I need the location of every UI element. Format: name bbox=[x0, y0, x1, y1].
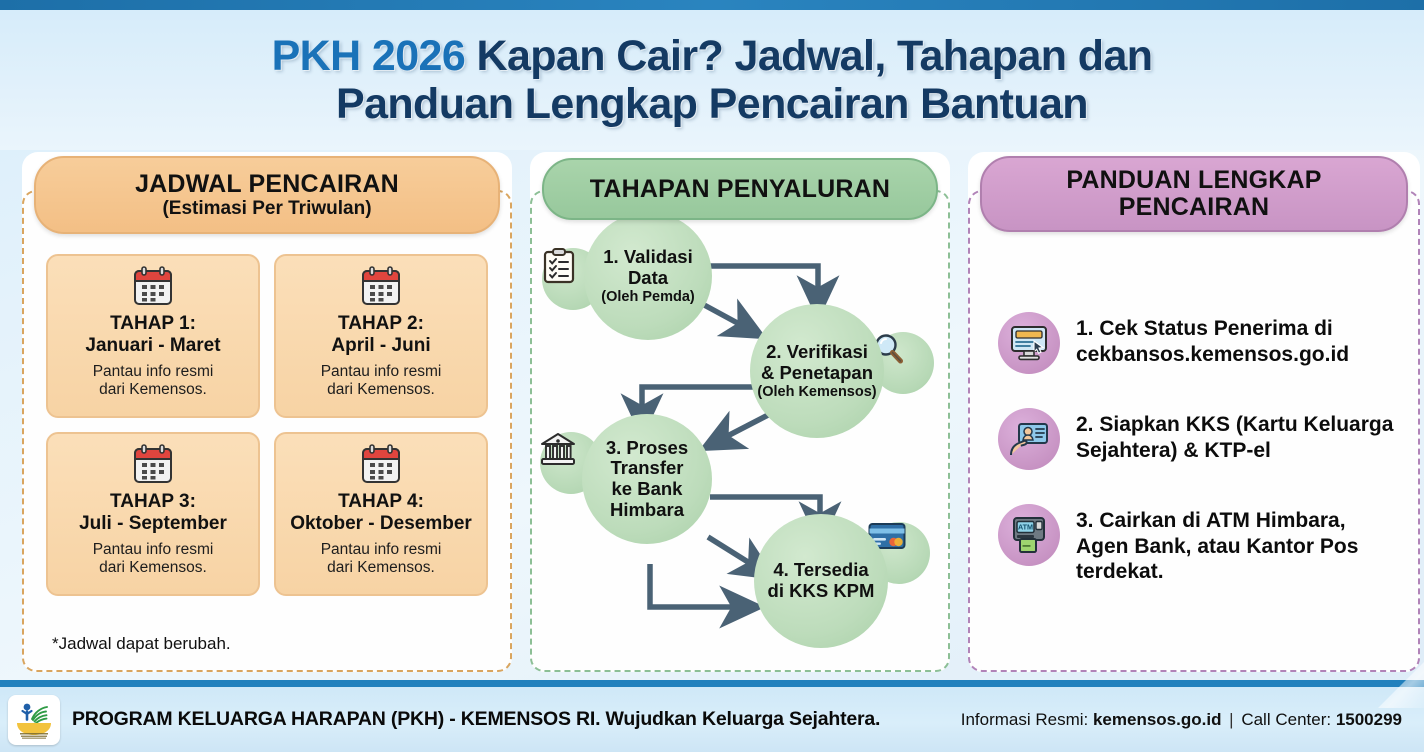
atm-machine-icon-wrap: ATM bbox=[998, 504, 1060, 566]
panels-row: TAHAP 1:Januari - Maret Pantau info resm… bbox=[0, 152, 1424, 672]
kemensos-logo bbox=[8, 695, 60, 745]
schedule-card-period: Januari - Maret bbox=[85, 335, 220, 356]
footer-info-label: Informasi Resmi: bbox=[961, 710, 1093, 729]
flow-node-3-line2: Transfer bbox=[610, 457, 683, 478]
calendar-icon bbox=[131, 266, 175, 308]
schedule-heading: JADWAL PENCAIRAN bbox=[135, 171, 399, 198]
calendar-icon bbox=[359, 266, 403, 308]
schedule-card[interactable]: TAHAP 3:Juli - September Pantau info res… bbox=[46, 432, 260, 596]
schedule-card[interactable]: TAHAP 4:Oktober - Desember Pantau info r… bbox=[274, 432, 488, 596]
schedule-card-note-2: dari Kemensos. bbox=[327, 381, 435, 398]
panel-tahapan-penyaluran: 1. ValidasiData (Oleh Pemda) 2. Ve bbox=[530, 152, 950, 672]
infographic-canvas: PKH 2026 Kapan Cair? Jadwal, Tahapan dan… bbox=[0, 0, 1424, 752]
guide-panel-body: 1. Cek Status Penerima di cekbansos.keme… bbox=[968, 190, 1420, 672]
guide-step[interactable]: ATM 3. Cairkan di ATM Himbara, Agen Bank… bbox=[998, 504, 1398, 585]
schedule-card-note-2: dari Kemensos. bbox=[99, 559, 207, 576]
flow-node-1[interactable]: 1. ValidasiData (Oleh Pemda) bbox=[584, 212, 712, 340]
footer-info-site[interactable]: kemensos.go.id bbox=[1093, 710, 1221, 729]
calendar-icon bbox=[359, 444, 403, 486]
schedule-card-grid: TAHAP 1:Januari - Maret Pantau info resm… bbox=[46, 254, 488, 596]
flow-node-4[interactable]: 4. Tersediadi KKS KPM bbox=[754, 514, 888, 648]
flow-panel-body: 1. ValidasiData (Oleh Pemda) 2. Ve bbox=[530, 190, 950, 672]
panel-panduan-lengkap: 1. Cek Status Penerima di cekbansos.keme… bbox=[968, 152, 1420, 672]
schedule-card[interactable]: TAHAP 1:Januari - Maret Pantau info resm… bbox=[46, 254, 260, 418]
bank-icon bbox=[540, 432, 576, 466]
title-rest-text: Kapan Cair? Jadwal, Tahapan dan bbox=[465, 32, 1152, 80]
calendar-icon bbox=[131, 444, 175, 486]
footer-main-text: PROGRAM KELUARGA HARAPAN (PKH) - KEMENSO… bbox=[72, 708, 880, 731]
schedule-card-note-2: dari Kemensos. bbox=[327, 559, 435, 576]
schedule-card-period: Oktober - Desember bbox=[290, 513, 472, 534]
schedule-panel-body: TAHAP 1:Januari - Maret Pantau info resm… bbox=[22, 190, 512, 672]
schedule-card-title: TAHAP 3: bbox=[110, 491, 196, 512]
monitor-cursor-icon bbox=[1010, 325, 1048, 361]
flow-node-2-line2: & Penetapan bbox=[761, 362, 873, 383]
schedule-card-title: TAHAP 4: bbox=[338, 491, 424, 512]
flow-node-3-line1: 3. Proses bbox=[606, 437, 688, 458]
flow-node-4-line2: di KKS KPM bbox=[768, 580, 875, 601]
flow-node-2-sub: (Oleh Kemensos) bbox=[757, 384, 876, 400]
schedule-card-note-1: Pantau info resmi bbox=[93, 363, 214, 380]
schedule-subheading: (Estimasi Per Triwulan) bbox=[162, 198, 371, 220]
flow-node-2[interactable]: 2. Verifikasi& Penetapan (Oleh Kemensos) bbox=[750, 304, 884, 438]
guide-step-text: 3. Cairkan di ATM Himbara, Agen Bank, at… bbox=[1076, 504, 1398, 585]
flow-node-1-sub: (Oleh Pemda) bbox=[601, 289, 694, 305]
schedule-card[interactable]: TAHAP 2:April - Juni Pantau info resmida… bbox=[274, 254, 488, 418]
flow-node-2-line1: 2. Verifikasi bbox=[766, 341, 868, 362]
schedule-footnote: *Jadwal dapat berubah. bbox=[52, 634, 231, 654]
schedule-card-title: TAHAP 2: bbox=[338, 313, 424, 334]
title-accent-text: PKH 2026 bbox=[272, 32, 466, 80]
footer-info-block: Informasi Resmi: kemensos.go.id | Call C… bbox=[961, 710, 1402, 730]
guide-step-text: 1. Cek Status Penerima di cekbansos.keme… bbox=[1076, 312, 1398, 367]
top-accent-bar bbox=[0, 0, 1424, 10]
page-footer: PROGRAM KELUARGA HARAPAN (PKH) - KEMENSO… bbox=[0, 680, 1424, 752]
footer-separator: | bbox=[1221, 710, 1241, 729]
flow-node-1-line1: 1. Validasi bbox=[603, 246, 692, 267]
page-header: PKH 2026 Kapan Cair? Jadwal, Tahapan dan… bbox=[0, 10, 1424, 150]
schedule-card-note-1: Pantau info resmi bbox=[321, 541, 442, 558]
svg-text:ATM: ATM bbox=[1018, 523, 1033, 532]
clipboard-check-icon bbox=[542, 248, 576, 284]
schedule-card-note-1: Pantau info resmi bbox=[93, 541, 214, 558]
schedule-card-title: TAHAP 1: bbox=[110, 313, 196, 334]
flow-heading: TAHAPAN PENYALURAN bbox=[590, 176, 890, 203]
flow-panel-header: TAHAPAN PENYALURAN bbox=[542, 158, 938, 220]
guide-step-text: 2. Siapkan KKS (Kartu Keluarga Sejahtera… bbox=[1076, 408, 1398, 463]
guide-step[interactable]: 2. Siapkan KKS (Kartu Keluarga Sejahtera… bbox=[998, 408, 1398, 470]
panel-jadwal-pencairan: TAHAP 1:Januari - Maret Pantau info resm… bbox=[22, 152, 512, 672]
guide-step[interactable]: 1. Cek Status Penerima di cekbansos.keme… bbox=[998, 312, 1398, 374]
page-title-line-2: Panduan Lengkap Pencairan Bantuan bbox=[336, 80, 1088, 128]
schedule-panel-header: JADWAL PENCAIRAN (Estimasi Per Triwulan) bbox=[34, 156, 500, 234]
flow-node-3-line4: Himbara bbox=[610, 499, 684, 520]
monitor-cursor-icon-wrap bbox=[998, 312, 1060, 374]
flow-node-4-line1: 4. Tersedia bbox=[773, 559, 868, 580]
flow-node-3[interactable]: 3. Proses Transfer ke Bank Himbara bbox=[582, 414, 712, 544]
guide-step-list: 1. Cek Status Penerima di cekbansos.keme… bbox=[998, 312, 1398, 585]
atm-machine-icon: ATM bbox=[1010, 516, 1048, 554]
flow-node-3-line3: ke Bank bbox=[612, 478, 683, 499]
flow-diagram: 1. ValidasiData (Oleh Pemda) 2. Ve bbox=[532, 192, 948, 670]
footer-call-number[interactable]: 1500299 bbox=[1336, 710, 1402, 729]
guide-panel-header: PANDUAN LENGKAPPENCAIRAN bbox=[980, 156, 1408, 232]
guide-heading-line2: PENCAIRAN bbox=[1119, 193, 1269, 221]
kemensos-logo-icon bbox=[13, 700, 55, 740]
page-title-line-1: PKH 2026 Kapan Cair? Jadwal, Tahapan dan bbox=[272, 32, 1153, 80]
id-card-hand-icon bbox=[1009, 421, 1049, 457]
schedule-card-note-2: dari Kemensos. bbox=[99, 381, 207, 398]
footer-call-label: Call Center: bbox=[1241, 710, 1335, 729]
schedule-card-period: Juli - September bbox=[79, 513, 227, 534]
schedule-card-period: April - Juni bbox=[331, 335, 430, 356]
flow-node-1-line2: Data bbox=[628, 267, 668, 288]
schedule-card-note-1: Pantau info resmi bbox=[321, 363, 442, 380]
id-card-hand-icon-wrap bbox=[998, 408, 1060, 470]
guide-heading-line1: PANDUAN LENGKAP bbox=[1066, 166, 1321, 194]
